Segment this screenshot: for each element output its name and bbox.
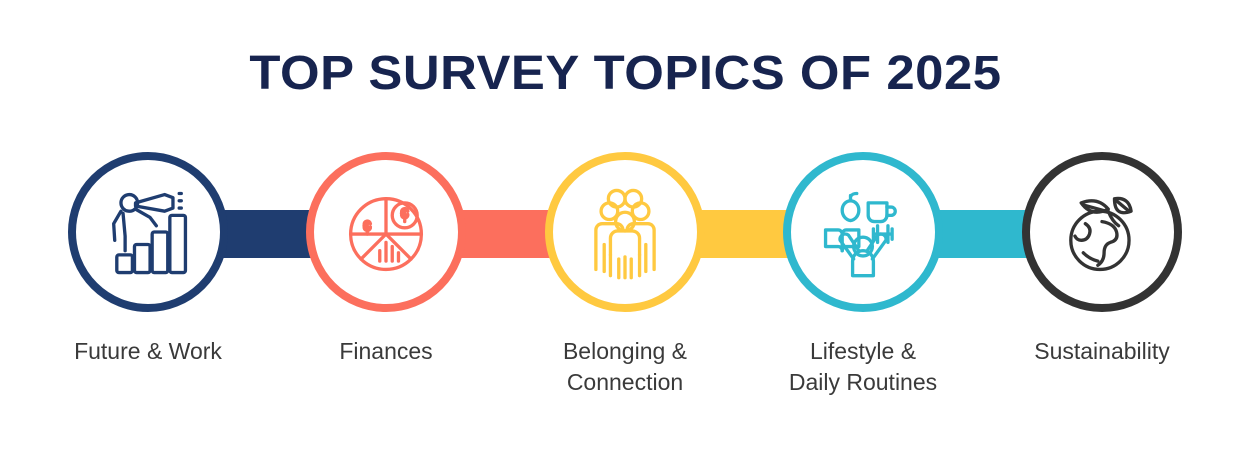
label-line: Daily Routines — [748, 367, 978, 398]
person-telescope-growth-bars-icon — [96, 180, 200, 284]
topic-node-finances[interactable] — [306, 152, 466, 312]
label-line: Connection — [510, 367, 740, 398]
page-title: TOP SURVEY TOPICS OF 2025 — [0, 46, 1251, 101]
globe-with-leaves-icon — [1050, 180, 1154, 284]
topic-node-future-and-work[interactable] — [68, 152, 228, 312]
pie-chart-dollar-icon — [334, 180, 438, 284]
topic-chain — [0, 152, 1251, 314]
topic-node-belonging-and-connection[interactable] — [545, 152, 705, 312]
topic-label-lifestyle-and-daily-routines: Lifestyle &Daily Routines — [748, 336, 978, 398]
wellbeing-apple-cup-book-dumbbell-icon — [811, 180, 915, 284]
label-line: Belonging & — [510, 336, 740, 367]
topic-label-future-and-work: Future & Work — [33, 336, 263, 367]
label-line: Finances — [271, 336, 501, 367]
label-line: Sustainability — [987, 336, 1217, 367]
label-line: Future & Work — [33, 336, 263, 367]
label-row: Future & WorkFinancesBelonging &Connecti… — [0, 336, 1251, 446]
topic-label-belonging-and-connection: Belonging &Connection — [510, 336, 740, 398]
topic-node-lifestyle-and-daily-routines[interactable] — [783, 152, 943, 312]
topic-label-finances: Finances — [271, 336, 501, 367]
group-of-people-icon — [573, 180, 677, 284]
label-line: Lifestyle & — [748, 336, 978, 367]
topic-node-sustainability[interactable] — [1022, 152, 1182, 312]
infographic-root: TOP SURVEY TOPICS OF 2025 Future & WorkF… — [0, 0, 1251, 452]
topic-label-sustainability: Sustainability — [987, 336, 1217, 367]
